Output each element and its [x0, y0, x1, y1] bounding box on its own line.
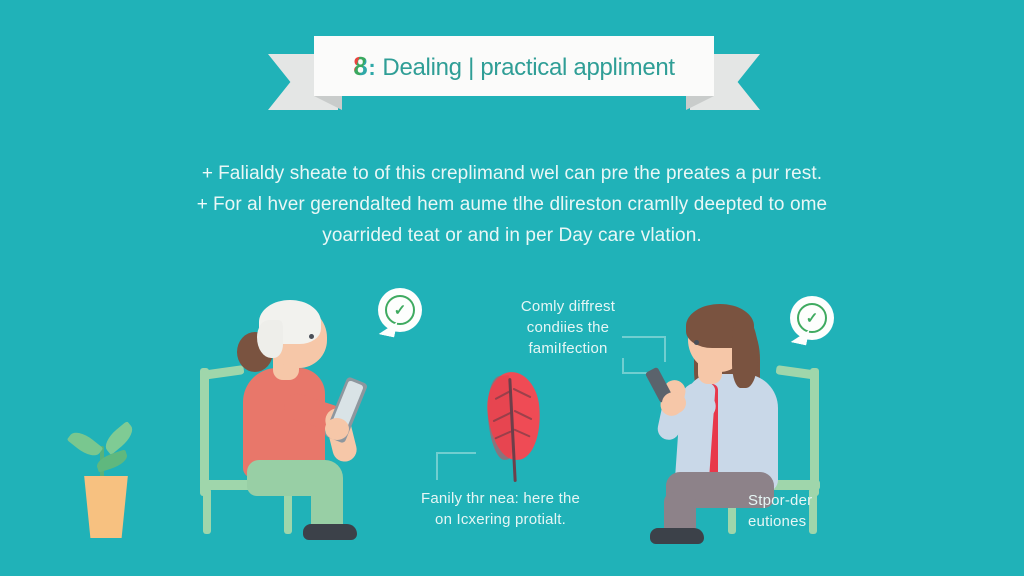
speech-bubble-left: ✓	[378, 288, 422, 332]
annotation-center-line-3: famiIfection	[488, 338, 648, 359]
annotation-center: Comly diffrest condiies the famiIfection	[488, 296, 648, 359]
connector-line-feather	[436, 452, 476, 480]
person-hair-side	[732, 318, 758, 388]
plant-leaf-left-icon	[67, 427, 104, 461]
check-icon: ✓	[385, 295, 415, 325]
section-number: 8	[353, 51, 367, 82]
speech-bubble-right: ✓	[790, 296, 834, 340]
annotation-center-line-1: Comly diffrest	[488, 296, 648, 317]
plant-pot	[80, 476, 132, 538]
annotation-bottom-left-line-1: Fanily thr nea: here the	[398, 488, 603, 509]
check-icon: ✓	[797, 303, 827, 333]
person-eye	[694, 340, 699, 345]
bullet-text-1: Falialdy sheate to of this creplimand we…	[218, 163, 822, 184]
person-shoe	[303, 524, 357, 540]
ribbon-body: 8 : Dealing | practical appliment	[314, 36, 714, 96]
section-number-colon: :	[368, 55, 375, 81]
bullet-list: +Falialdy sheate to of this creplimand w…	[0, 158, 1024, 251]
slide-canvas: 8 : Dealing | practical appliment +Falia…	[0, 0, 1024, 576]
annotation-bottom-left-line-2: on Icxering protialt.	[398, 509, 603, 530]
person-hand	[662, 392, 686, 414]
bullet-marker: +	[197, 194, 208, 215]
bullet-marker: +	[202, 163, 213, 184]
bullet-item-1: +Falialdy sheate to of this creplimand w…	[0, 158, 1024, 189]
annotation-bottom-left: Fanily thr nea: here the on Icxering pro…	[398, 488, 603, 530]
annotation-bottom-right-line-2: eutiones	[748, 511, 868, 532]
bullet-text-2: For al hver gerendalted hem aume tlhe dl…	[213, 194, 827, 215]
chair-leg-front	[203, 488, 211, 534]
person-hair-side	[257, 320, 283, 358]
bullet-item-2: +For al hver gerendalted hem aume tlhe d…	[0, 189, 1024, 220]
bullet-continuation-line: yoarrided teat or and in per Day care vl…	[0, 220, 1024, 251]
banner-title-group: 8 : Dealing | practical appliment	[353, 51, 675, 82]
plant-leaf-right-icon	[101, 421, 137, 455]
feather-leaf-illustration	[482, 372, 552, 482]
person-hand	[325, 418, 349, 440]
annotation-center-line-2: condiies the	[488, 317, 648, 338]
person-shoe	[650, 528, 704, 544]
page-title: Dealing | practical appliment	[382, 54, 674, 82]
annotation-bottom-right-line-1: Stpor-der	[748, 490, 868, 511]
annotation-bottom-right: Stpor-der eutiones	[748, 490, 868, 532]
person-eye	[309, 334, 314, 339]
elderly-person-figure	[225, 300, 405, 540]
ribbon-banner: 8 : Dealing | practical appliment	[268, 36, 760, 110]
chair-backrest-post	[200, 368, 209, 496]
potted-plant-illustration	[62, 416, 148, 538]
